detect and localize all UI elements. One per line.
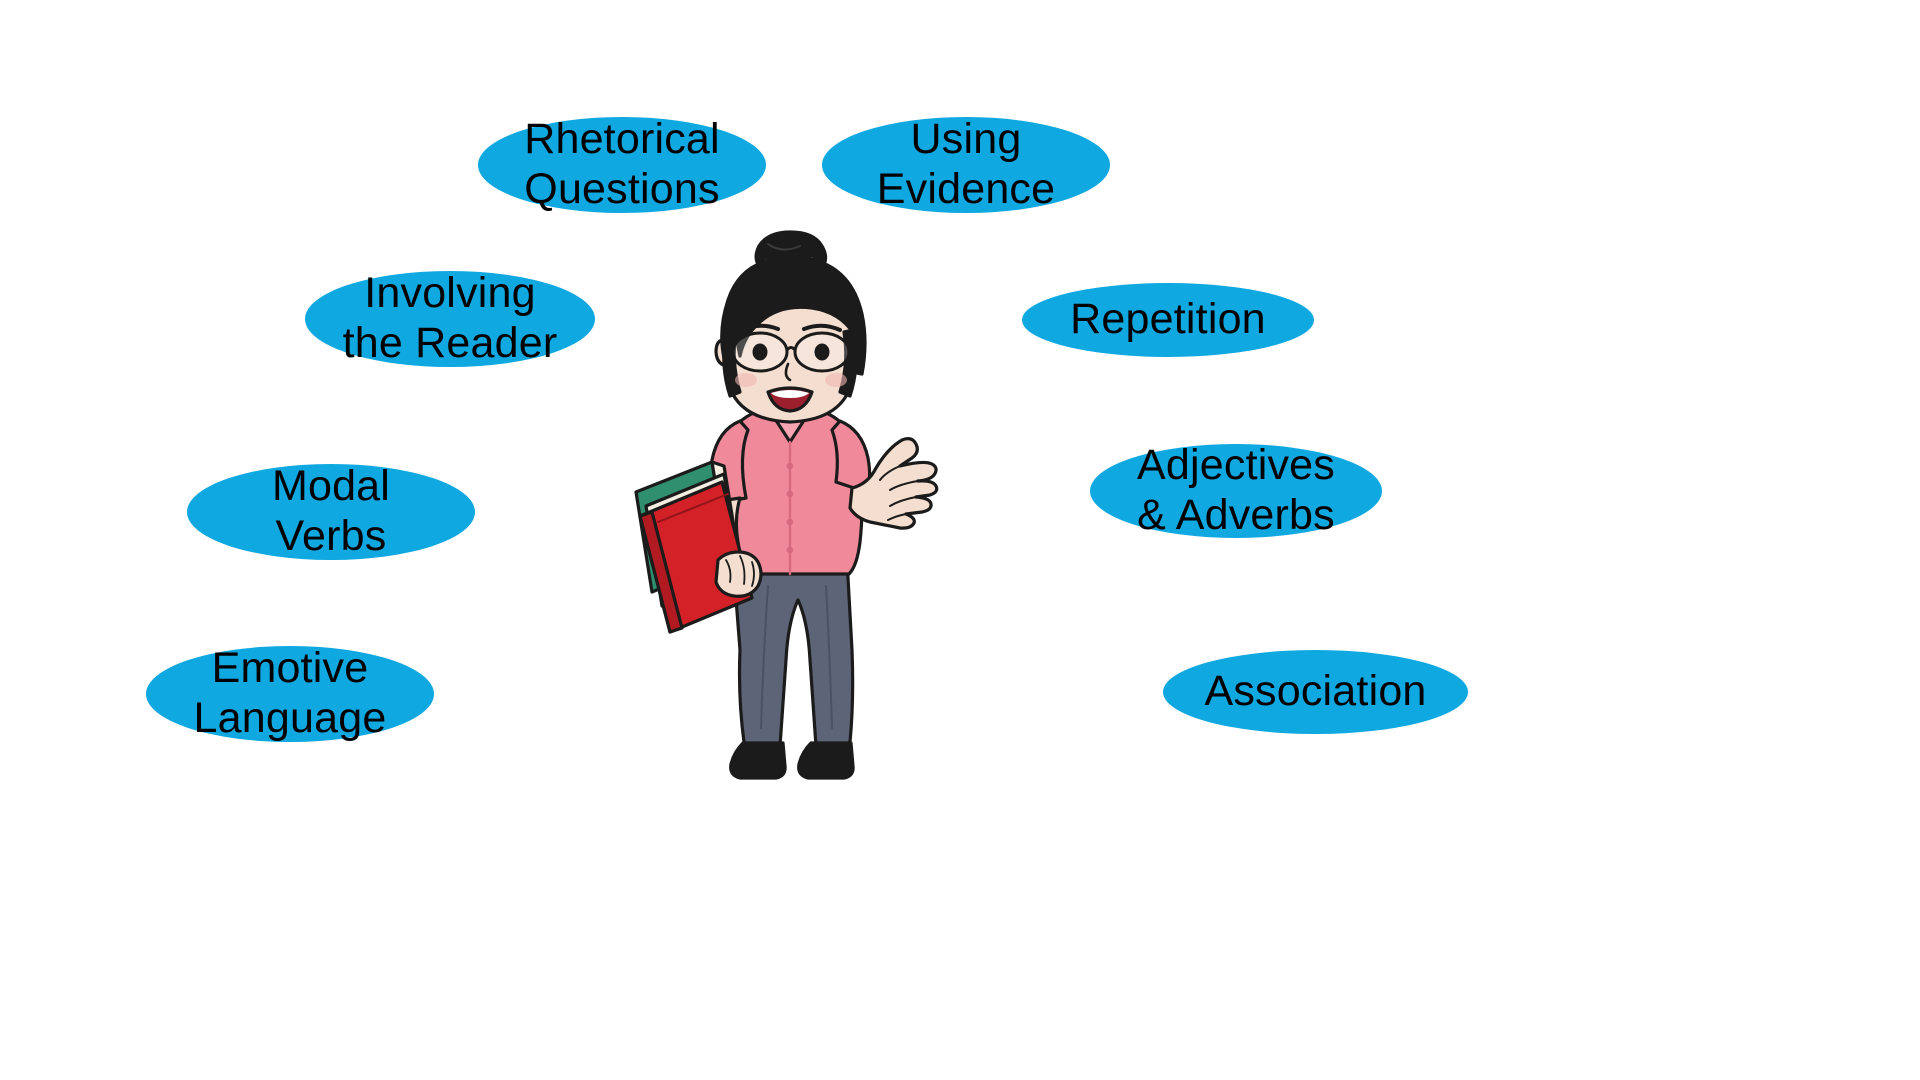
shirt-button [787,547,794,554]
shirt-button [787,519,794,526]
bubble-involving-the-reader[interactable]: Involving the Reader [305,271,595,367]
bubble-modal-verbs[interactable]: Modal Verbs [187,464,475,560]
eye-left [753,344,768,361]
bubble-label: Emotive Language [188,644,393,744]
shoe-right [799,743,853,778]
bubble-label: Involving the Reader [337,269,564,369]
bubble-label: Using Evidence [871,115,1062,215]
shirt-button [787,491,794,498]
bubble-emotive-language[interactable]: Emotive Language [146,646,434,742]
bubble-label: Repetition [1064,295,1272,345]
bubble-adjectives-adverbs[interactable]: Adjectives & Adverbs [1090,444,1382,538]
slide-canvas: Rhetorical Questions Using Evidence Invo… [0,0,1920,1080]
bubble-label: Modal Verbs [266,462,396,562]
bubble-repetition[interactable]: Repetition [1022,283,1314,357]
bubble-label: Adjectives & Adverbs [1131,441,1341,541]
bubble-using-evidence[interactable]: Using Evidence [822,117,1110,213]
eye-right [815,344,830,361]
bubble-label: Rhetorical Questions [518,115,726,215]
teacher-avatar-illustration [600,230,980,800]
bubble-association[interactable]: Association [1163,650,1468,734]
cheek-left [735,373,757,387]
cheek-right [825,373,847,387]
bubble-rhetorical-questions[interactable]: Rhetorical Questions [478,117,766,213]
shirt-button [787,463,794,470]
shoe-left [731,743,785,778]
bubble-label: Association [1198,667,1432,717]
